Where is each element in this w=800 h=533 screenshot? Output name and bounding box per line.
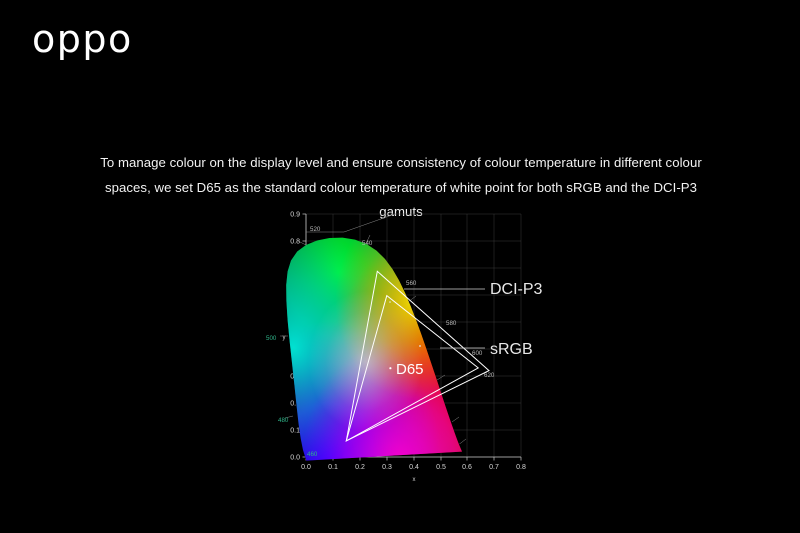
x-tick-label: 0.0 (301, 464, 311, 471)
chromaticity-chart: 0.9 0.8 0.7 0.6 0.5 0.4 0.3 0.2 0.1 0.0 … (262, 200, 562, 490)
wavelength-label-520: 520 (310, 226, 321, 233)
wavelength-label-560: 560 (406, 280, 417, 287)
x-tick-label: 0.5 (436, 464, 446, 471)
wavelength-label-500: 500 (266, 335, 277, 342)
white-point-marker (389, 367, 391, 369)
x-tick-label: 0.2 (355, 464, 365, 471)
x-tick-label: 0.6 (462, 464, 472, 471)
wavelength-label-620: 620 (484, 372, 495, 379)
x-tick-label: 0.1 (328, 464, 338, 471)
x-tick-label: 0.3 (382, 464, 392, 471)
x-tick-label: 0.7 (489, 464, 499, 471)
y-tick-label: 0.1 (290, 427, 300, 434)
wavelength-label-580: 580 (446, 320, 457, 327)
wavelength-label-460: 460 (307, 451, 318, 458)
y-tick-label: 0.8 (290, 238, 300, 245)
x-tick-label: 0.4 (409, 464, 419, 471)
y-tick-label: 0.0 (290, 454, 300, 461)
x-axis-title: x (413, 477, 416, 483)
x-tick-label: 0.8 (516, 464, 526, 471)
x-axis-tick-labels: 0.0 0.1 0.2 0.3 0.4 0.5 0.6 0.7 0.8 (301, 464, 526, 471)
wavelength-label-540: 540 (362, 240, 373, 247)
oppo-logo: oppo (32, 20, 133, 58)
wavelength-label-600: 600 (472, 350, 483, 357)
spectral-locus-fill (282, 230, 472, 465)
gamut-label-srgb: sRGB (490, 341, 533, 358)
cie-chromaticity-figure: 0.9 0.8 0.7 0.6 0.5 0.4 0.3 0.2 0.1 0.0 … (262, 200, 562, 490)
y-tick-label: 0.9 (290, 211, 300, 218)
wavelength-label-480: 480 (278, 417, 289, 424)
gamut-label-dci-p3: DCI-P3 (490, 281, 543, 298)
white-point-label: D65 (396, 361, 424, 378)
slide-canvas: oppo To manage colour on the display lev… (0, 0, 800, 533)
